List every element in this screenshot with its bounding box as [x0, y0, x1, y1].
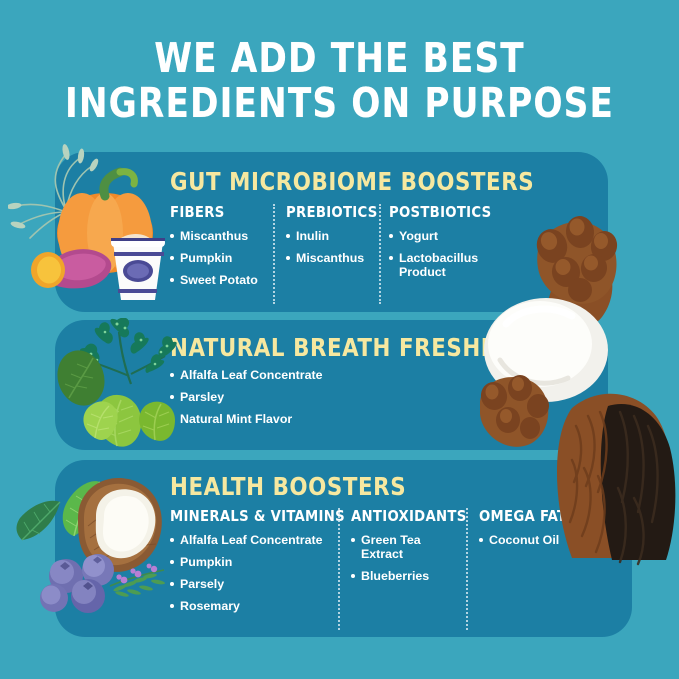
column-heading-minerals-vitamins: MINERALS & VITAMINS — [170, 508, 327, 525]
list-omega-fatty-acids: Coconut Oil — [479, 533, 624, 547]
column-breath-fresheners: Alfalfa Leaf Concentrate Parsley Natural… — [170, 368, 470, 434]
list-item: Sweet Potato — [170, 273, 275, 287]
column-heading-postbiotics: POSTBIOTICS — [389, 204, 494, 221]
title-line-1: WE ADD THE BEST — [24, 36, 655, 81]
list-item: Parsely — [170, 577, 335, 591]
infographic-canvas: WE ADD THE BEST INGREDIENTS ON PURPOSE G… — [0, 0, 679, 679]
column-omega-fatty-acids: OMEGA FATTY ACIDS Coconut Oil — [479, 508, 624, 555]
list-minerals-vitamins: Alfalfa Leaf Concentrate Pumpkin Parsely… — [170, 533, 335, 613]
list-item: Lactobacillus Product — [389, 251, 499, 279]
panel-health-boosters: HEALTH BOOSTERS MINERALS & VITAMINS Alfa… — [55, 460, 632, 637]
list-item: Green Tea Extract — [351, 533, 456, 561]
panel-natural-breath-fresheners: NATURAL BREATH FRESHENERS Alfalfa Leaf C… — [55, 320, 608, 450]
column-heading-omega-fatty-acids: OMEGA FATTY ACIDS — [479, 508, 617, 525]
column-heading-prebiotics: PREBIOTICS — [286, 204, 372, 221]
title-line-2: INGREDIENTS ON PURPOSE — [24, 81, 655, 126]
panel-1-columns: FIBERS Miscanthus Pumpkin Sweet Potato P… — [55, 152, 608, 312]
list-item: Miscanthus — [170, 229, 275, 243]
column-postbiotics: POSTBIOTICS Yogurt Lactobacillus Product — [389, 204, 499, 287]
list-item: Miscanthus — [286, 251, 376, 265]
list-item: Pumpkin — [170, 251, 275, 265]
panel-3-columns: MINERALS & VITAMINS Alfalfa Leaf Concent… — [55, 460, 632, 637]
list-item: Inulin — [286, 229, 376, 243]
column-heading-fibers: FIBERS — [170, 204, 270, 221]
list-item: Alfalfa Leaf Concentrate — [170, 368, 470, 382]
column-divider — [466, 508, 468, 630]
list-item: Alfalfa Leaf Concentrate — [170, 533, 335, 547]
column-prebiotics: PREBIOTICS Inulin Miscanthus — [286, 204, 376, 273]
list-prebiotics: Inulin Miscanthus — [286, 229, 376, 265]
panel-2-columns: Alfalfa Leaf Concentrate Parsley Natural… — [55, 320, 608, 450]
list-item: Blueberries — [351, 569, 456, 583]
column-fibers: FIBERS Miscanthus Pumpkin Sweet Potato — [170, 204, 275, 295]
list-item: Natural Mint Flavor — [170, 412, 470, 426]
column-divider — [273, 204, 275, 304]
column-antioxidants: ANTIOXIDANTS Green Tea Extract Blueberri… — [351, 508, 456, 591]
list-item: Yogurt — [389, 229, 499, 243]
list-postbiotics: Yogurt Lactobacillus Product — [389, 229, 499, 279]
column-minerals-vitamins: MINERALS & VITAMINS Alfalfa Leaf Concent… — [170, 508, 335, 621]
column-divider — [338, 508, 340, 630]
list-antioxidants: Green Tea Extract Blueberries — [351, 533, 456, 583]
list-item: Coconut Oil — [479, 533, 624, 547]
column-divider — [379, 204, 381, 304]
list-item: Parsley — [170, 390, 470, 404]
column-heading-antioxidants: ANTIOXIDANTS — [351, 508, 451, 525]
list-fibers: Miscanthus Pumpkin Sweet Potato — [170, 229, 275, 287]
list-item: Pumpkin — [170, 555, 335, 569]
page-title: WE ADD THE BEST INGREDIENTS ON PURPOSE — [0, 36, 679, 126]
list-breath-fresheners: Alfalfa Leaf Concentrate Parsley Natural… — [170, 368, 470, 426]
list-item: Rosemary — [170, 599, 335, 613]
panel-gut-microbiome-boosters: GUT MICROBIOME BOOSTERS FIBERS Miscanthu… — [55, 152, 608, 312]
